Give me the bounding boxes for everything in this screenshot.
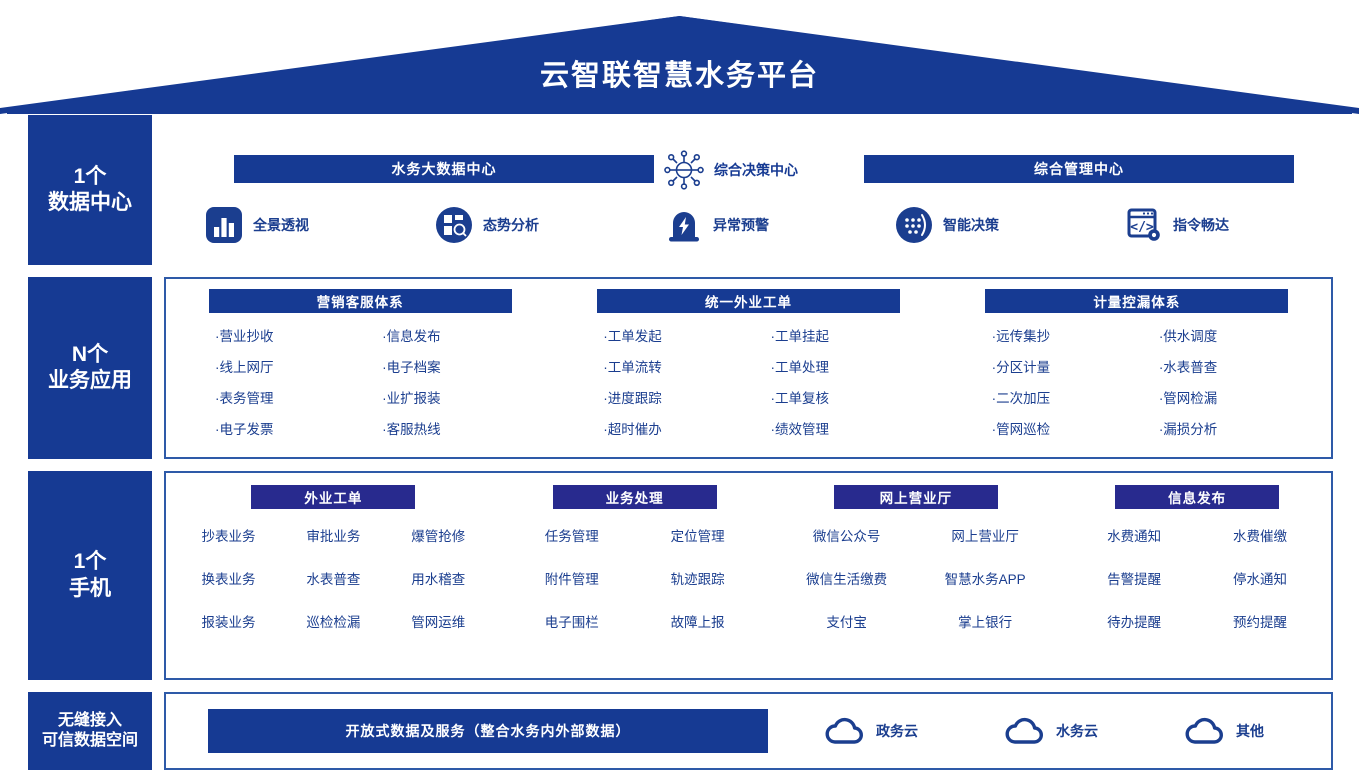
mobile-column: 网上营业厅 微信公众号 网上营业厅 微信生活缴费 智慧水务APP 支付宝 掌上银…	[769, 485, 1064, 668]
cloud-other[interactable]: 其他	[1184, 715, 1264, 747]
mobile-item[interactable]: 微信生活缴费	[806, 568, 887, 588]
business-item[interactable]: ·工单复核	[748, 387, 907, 407]
business-column: 营销客服体系 ·营业抄收 ·信息发布 ·线上网厅 ·电子档案 ·表务管理 ·业扩…	[166, 289, 554, 449]
business-column-title[interactable]: 计量控漏体系	[985, 289, 1288, 313]
mobile-item[interactable]: 智慧水务APP	[945, 568, 1026, 588]
business-item[interactable]: ·表务管理	[201, 387, 360, 407]
mobile-item[interactable]: 微信公众号	[813, 525, 881, 545]
cloud-label: 水务云	[1056, 721, 1098, 741]
feature-label: 智能决策	[943, 215, 999, 235]
mobile-item[interactable]: 报装业务	[201, 611, 255, 631]
business-column: 统一外业工单 ·工单发起 ·工单挂起 ·工单流转 ·工单处理 ·进度跟踪 ·工单…	[554, 289, 942, 449]
business-item[interactable]: ·电子档案	[360, 356, 519, 376]
mobile-panel: 外业工单 抄表业务 审批业务 爆管抢修 换表业务 水表普查 用水稽查 报装业务 …	[164, 471, 1333, 680]
business-item-grid: ·营业抄收 ·信息发布 ·线上网厅 ·电子档案 ·表务管理 ·业扩报装 ·电子发…	[201, 325, 519, 438]
business-item[interactable]: ·线上网厅	[201, 356, 360, 376]
mobile-item-grid: 微信公众号 网上营业厅 微信生活缴费 智慧水务APP 支付宝 掌上银行	[777, 525, 1054, 631]
feature-smart-decision[interactable]: 智能决策	[894, 205, 1124, 245]
mobile-item[interactable]: 附件管理	[545, 568, 599, 588]
side-label-foundation: 无缝接入 可信数据空间	[28, 692, 152, 770]
mobile-item[interactable]: 审批业务	[306, 525, 360, 545]
mobile-item[interactable]: 网上营业厅	[951, 525, 1019, 545]
foundation-panel: 开放式数据及服务（整合水务内外部数据） 政务云 水务云	[164, 692, 1333, 770]
business-item[interactable]: ·工单发起	[589, 325, 748, 345]
mobile-item[interactable]: 停水通知	[1233, 568, 1287, 588]
feature-command-delivery[interactable]: </> 指令畅达	[1124, 205, 1324, 245]
platform-architecture-diagram: 云智联智慧水务平台 1个 数据中心 水务大数据中心	[0, 0, 1359, 783]
business-item[interactable]: ·管网检漏	[1137, 387, 1296, 407]
feature-panorama-view[interactable]: 全景透视	[204, 205, 434, 245]
mobile-item-grid: 任务管理 定位管理 附件管理 轨迹跟踪 电子围栏 故障上报	[509, 525, 761, 631]
mobile-column: 外业工单 抄表业务 审批业务 爆管抢修 换表业务 水表普查 用水稽查 报装业务 …	[166, 485, 501, 668]
mobile-item[interactable]: 水表普查	[306, 568, 360, 588]
side-label-line2: 数据中心	[48, 190, 132, 216]
side-label-data-center: 1个 数据中心	[28, 115, 152, 265]
business-item[interactable]: ·超时催办	[589, 418, 748, 438]
mobile-item[interactable]: 抄表业务	[201, 525, 255, 545]
mobile-item[interactable]: 支付宝	[826, 611, 867, 631]
network-nodes-icon	[664, 150, 704, 190]
bar-chart-icon	[204, 205, 244, 245]
side-label-line1: N个	[48, 342, 132, 368]
cloud-label: 其他	[1236, 721, 1264, 741]
business-item[interactable]: ·分区计量	[978, 356, 1137, 376]
side-label-line1: 无缝接入	[42, 711, 138, 731]
bar-open-data-services[interactable]: 开放式数据及服务（整合水务内外部数据）	[208, 709, 768, 753]
mobile-item[interactable]: 任务管理	[545, 525, 599, 545]
business-item[interactable]: ·客服热线	[360, 418, 519, 438]
mobile-column-title[interactable]: 网上营业厅	[834, 485, 998, 509]
grid-search-icon	[434, 205, 474, 245]
side-label-business-apps: N个 业务应用	[28, 277, 152, 459]
mobile-item[interactable]: 预约提醒	[1233, 611, 1287, 631]
cloud-water[interactable]: 水务云	[1004, 715, 1098, 747]
mobile-item[interactable]: 管网运维	[411, 611, 465, 631]
business-item-grid: ·工单发起 ·工单挂起 ·工单流转 ·工单处理 ·进度跟踪 ·工单复核 ·超时催…	[589, 325, 907, 438]
business-column: 计量控漏体系 ·远传集抄 ·供水调度 ·分区计量 ·水表普查 ·二次加压 ·管网…	[943, 289, 1331, 449]
feature-label: 态势分析	[483, 215, 539, 235]
business-item[interactable]: ·漏损分析	[1137, 418, 1296, 438]
business-item[interactable]: ·工单流转	[589, 356, 748, 376]
cloud-group: 政务云 水务云 其他	[824, 715, 1264, 747]
roof-shape	[0, 16, 1359, 114]
feature-label: 全景透视	[253, 215, 309, 235]
cloud-icon	[1004, 715, 1046, 747]
business-item[interactable]: ·远传集抄	[978, 325, 1137, 345]
business-item[interactable]: ·信息发布	[360, 325, 519, 345]
business-apps-panel: 营销客服体系 ·营业抄收 ·信息发布 ·线上网厅 ·电子档案 ·表务管理 ·业扩…	[164, 277, 1333, 459]
business-column-title[interactable]: 统一外业工单	[597, 289, 900, 313]
business-item[interactable]: ·工单挂起	[748, 325, 907, 345]
mobile-item[interactable]: 电子围栏	[545, 611, 599, 631]
cloud-icon	[824, 715, 866, 747]
mobile-item-grid: 水费通知 水费催缴 告警提醒 停水通知 待办提醒 预约提醒	[1071, 525, 1323, 631]
business-item[interactable]: ·进度跟踪	[589, 387, 748, 407]
mobile-column-title[interactable]: 业务处理	[553, 485, 717, 509]
row-business-apps: N个 业务应用 营销客服体系 ·营业抄收 ·信息发布 ·线上网厅 ·电子档案 ·…	[28, 277, 1333, 459]
cloud-label: 政务云	[876, 721, 918, 741]
mobile-item-grid: 抄表业务 审批业务 爆管抢修 换表业务 水表普查 用水稽查 报装业务 巡检检漏 …	[176, 525, 491, 631]
mobile-item[interactable]: 用水稽查	[411, 568, 465, 588]
feature-label: 异常预警	[713, 215, 769, 235]
feature-situation-analysis[interactable]: 态势分析	[434, 205, 664, 245]
mobile-item[interactable]: 水费通知	[1107, 525, 1161, 545]
business-item[interactable]: ·业扩报装	[360, 387, 519, 407]
row-mobile: 1个 手机 外业工单 抄表业务 审批业务 爆管抢修 换表业务 水表普查 用水稽查…	[28, 471, 1333, 680]
mobile-item[interactable]: 掌上银行	[958, 611, 1012, 631]
mobile-item[interactable]: 轨迹跟踪	[671, 568, 725, 588]
side-label-line2: 手机	[69, 576, 111, 602]
mobile-item[interactable]: 待办提醒	[1107, 611, 1161, 631]
side-label-line2: 业务应用	[48, 368, 132, 394]
alarm-bolt-icon	[664, 205, 704, 245]
side-label-line2: 可信数据空间	[42, 731, 138, 751]
row-foundation: 无缝接入 可信数据空间 开放式数据及服务（整合水务内外部数据） 政务云 水务云	[28, 692, 1333, 770]
mobile-item[interactable]: 告警提醒	[1107, 568, 1161, 588]
mobile-column: 信息发布 水费通知 水费催缴 告警提醒 停水通知 待办提醒 预约提醒	[1063, 485, 1331, 668]
business-item-grid: ·远传集抄 ·供水调度 ·分区计量 ·水表普查 ·二次加压 ·管网检漏 ·管网巡…	[978, 325, 1296, 438]
business-item[interactable]: ·水表普查	[1137, 356, 1296, 376]
mobile-item[interactable]: 换表业务	[201, 568, 255, 588]
feature-label: 指令畅达	[1173, 215, 1229, 235]
roof-banner	[0, 16, 1359, 114]
mobile-item[interactable]: 爆管抢修	[411, 525, 465, 545]
data-center-body: 水务大数据中心 综合决策中心	[164, 115, 1333, 265]
mobile-item[interactable]: 巡检检漏	[306, 611, 360, 631]
business-item[interactable]: ·二次加压	[978, 387, 1137, 407]
side-label-line1: 1个	[69, 549, 111, 575]
business-item[interactable]: ·供水调度	[1137, 325, 1296, 345]
cloud-icon	[1184, 715, 1226, 747]
business-item[interactable]: ·绩效管理	[748, 418, 907, 438]
mobile-item[interactable]: 故障上报	[671, 611, 725, 631]
label-decision-center: 综合决策中心	[714, 160, 798, 180]
side-label-mobile: 1个 手机	[28, 471, 152, 680]
mobile-column: 业务处理 任务管理 定位管理 附件管理 轨迹跟踪 电子围栏 故障上报	[501, 485, 769, 668]
mobile-column-title[interactable]: 信息发布	[1115, 485, 1279, 509]
bar-water-bigdata-center[interactable]: 水务大数据中心	[234, 155, 654, 183]
mobile-item[interactable]: 定位管理	[671, 525, 725, 545]
row-data-center: 1个 数据中心 水务大数据中心	[28, 115, 1333, 265]
cloud-government[interactable]: 政务云	[824, 715, 918, 747]
business-item[interactable]: ·营业抄收	[201, 325, 360, 345]
code-window-gear-icon: </>	[1124, 205, 1164, 245]
side-label-line1: 1个	[48, 164, 132, 190]
mobile-column-title[interactable]: 外业工单	[251, 485, 415, 509]
bar-management-center[interactable]: 综合管理中心	[864, 155, 1294, 183]
data-center-icon-strip: 全景透视 态势分析	[204, 205, 1354, 245]
neural-brain-icon	[894, 205, 934, 245]
business-item[interactable]: ·电子发票	[201, 418, 360, 438]
business-column-title[interactable]: 营销客服体系	[209, 289, 512, 313]
business-item[interactable]: ·工单处理	[748, 356, 907, 376]
feature-abnormal-alert[interactable]: 异常预警	[664, 205, 894, 245]
business-item[interactable]: ·管网巡检	[978, 418, 1137, 438]
mobile-item[interactable]: 水费催缴	[1233, 525, 1287, 545]
decision-center-group: 综合决策中心	[664, 151, 854, 189]
